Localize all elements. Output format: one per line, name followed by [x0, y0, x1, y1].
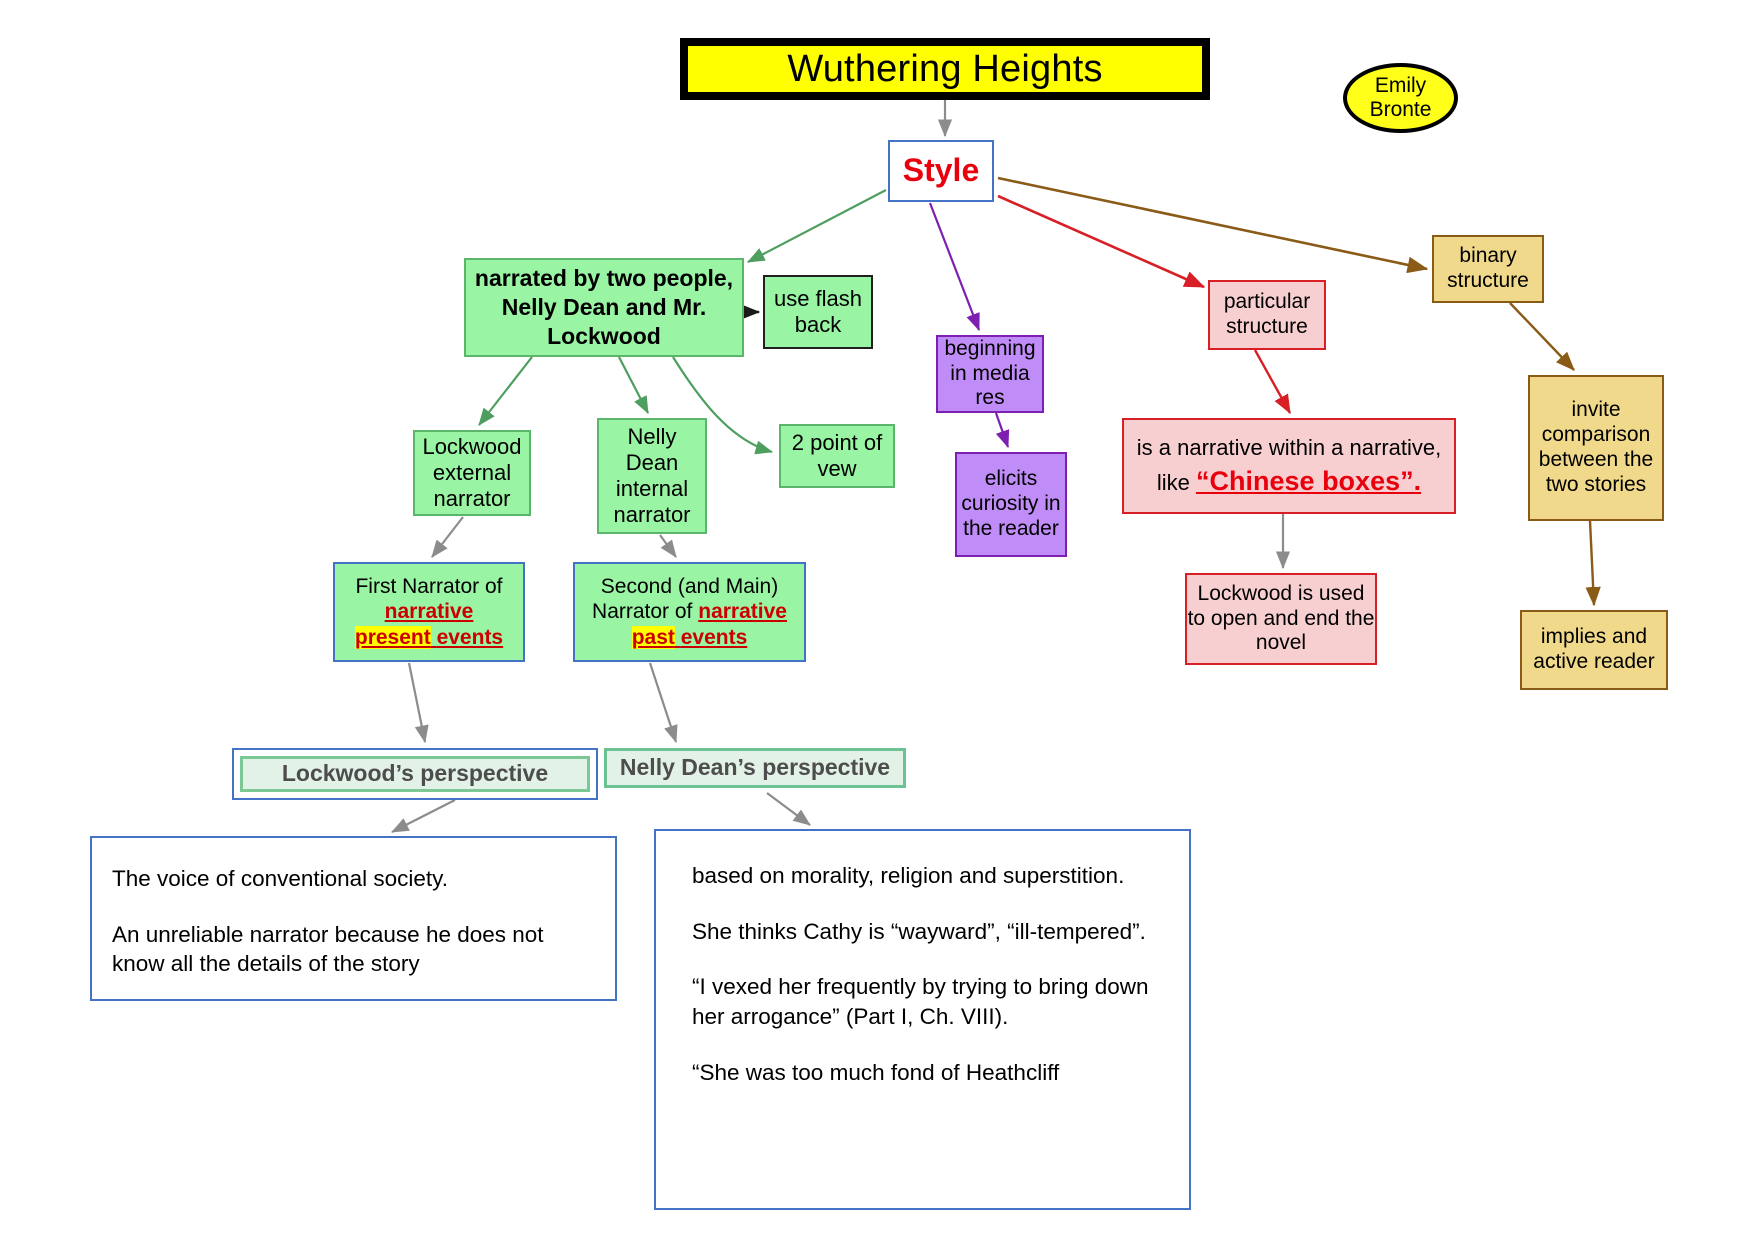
edge-nelly-internal-to-second-narrator — [660, 535, 676, 557]
edge-binary-structure-to-invite — [1510, 303, 1574, 370]
node-lockwood-external-narrator-label: Lockwood external narrator — [415, 434, 529, 512]
node-narrated-by-two-people: narrated by two people, Nelly Dean and M… — [464, 258, 744, 357]
root-node-style: Style — [888, 140, 994, 202]
first-narrator-lead: First Narrator of — [355, 575, 502, 598]
node-use-flash-back-label: use flash back — [765, 286, 871, 338]
node-elicits-curiosity-label: elicits curiosity in the reader — [957, 467, 1065, 541]
concept-map-canvas: Wuthering Heights Emily Bronte Style nar… — [0, 0, 1754, 1240]
root-node-label: Style — [890, 152, 992, 190]
edge-narration-to-lockwood-external — [479, 357, 532, 425]
edge-invite-to-implies — [1590, 521, 1594, 605]
node-lockwood-perspective-label: Lockwood’s perspective — [243, 760, 587, 787]
node-elicits-curiosity: elicits curiosity in the reader — [955, 452, 1067, 557]
node-lockwood-external-narrator: Lockwood external narrator — [413, 430, 531, 516]
edge-style-to-particular-structure — [998, 196, 1204, 287]
node-beginning-in-media-res: beginning in media res — [936, 335, 1044, 413]
node-particular-structure-label: particular structure — [1210, 290, 1324, 340]
edge-lockwood-perspective-to-notes — [392, 800, 455, 832]
node-lockwood-perspective: Lockwood’s perspective — [232, 748, 598, 800]
author-node: Emily Bronte — [1343, 63, 1458, 133]
edge-media-res-to-elicits — [996, 413, 1008, 447]
node-use-flash-back: use flash back — [763, 275, 873, 349]
first-narrator-emph-present: present — [355, 626, 431, 649]
node-particular-structure: particular structure — [1208, 280, 1326, 350]
nelly-note-3: “I vexed her frequently by trying to bri… — [692, 972, 1167, 1031]
map-title-node: Wuthering Heights — [680, 38, 1210, 100]
node-binary-structure: binary structure — [1432, 235, 1544, 303]
node-nelly-dean-internal-narrator-label: Nelly Dean internal narrator — [599, 424, 705, 528]
edge-style-to-narration — [748, 190, 886, 262]
node-binary-structure-label: binary structure — [1434, 244, 1542, 294]
node-lockwood-opens-ends-novel-label: Lockwood is used to open and end the nov… — [1187, 582, 1375, 656]
edge-style-to-media-res — [930, 203, 979, 330]
author-name: Emily Bronte — [1347, 74, 1454, 121]
edge-lockwood-external-to-first-narrator — [432, 517, 463, 557]
node-first-narrator: First Narrator of narrative present even… — [333, 562, 525, 662]
edge-nelly-perspective-to-notes — [767, 793, 810, 825]
node-two-point-of-view-label: 2 point of vew — [781, 430, 893, 482]
first-narrator-emph-events: events — [437, 626, 504, 649]
nelly-note-4: “She was too much fond of Heathcliff — [692, 1058, 1167, 1088]
node-implies-active-reader: implies and active reader — [1520, 610, 1668, 690]
lockwood-note-2: An unreliable narrator because he does n… — [112, 920, 595, 979]
edge-style-to-binary-structure — [998, 178, 1427, 269]
second-narrator-emph-events: events — [681, 626, 748, 649]
node-beginning-in-media-res-label: beginning in media res — [938, 337, 1042, 411]
edge-particular-structure-to-chinese-boxes — [1255, 350, 1290, 413]
node-two-point-of-view: 2 point of vew — [779, 424, 895, 488]
edge-second-narrator-to-nelly-perspective — [650, 663, 676, 742]
node-chinese-boxes: is a narrative within a narrative, like … — [1122, 418, 1456, 514]
lockwood-perspective-inner-bar: Lockwood’s perspective — [240, 756, 590, 792]
node-second-narrator: Second (and Main) Narrator of narrative … — [573, 562, 806, 662]
node-chinese-boxes-label: is a narrative within a narrative, like … — [1124, 433, 1454, 499]
chinese-boxes-emphasis: “Chinese boxes”. — [1196, 466, 1421, 496]
nelly-note-1: based on morality, religion and supersti… — [692, 861, 1167, 891]
edge-first-narrator-to-lockwood-perspective — [409, 663, 425, 742]
second-narrator-emph-narrative: narrative — [698, 600, 787, 623]
panel-nelly-dean-notes: based on morality, religion and supersti… — [654, 829, 1191, 1210]
node-implies-active-reader-label: implies and active reader — [1522, 625, 1666, 675]
node-second-narrator-label: Second (and Main) Narrator of narrative … — [575, 574, 804, 651]
first-narrator-emph-narrative: narrative — [385, 600, 474, 623]
edge-narration-to-nelly-internal — [619, 357, 648, 413]
author-last-name: Bronte — [1370, 98, 1432, 121]
node-narrated-by-two-people-label: narrated by two people, Nelly Dean and M… — [466, 264, 742, 350]
node-nelly-dean-perspective: Nelly Dean’s perspective — [604, 748, 906, 788]
panel-lockwood-notes: The voice of conventional society. An un… — [90, 836, 617, 1001]
author-first-name: Emily — [1375, 74, 1426, 97]
lockwood-note-1: The voice of conventional society. — [112, 864, 595, 894]
map-title-text: Wuthering Heights — [688, 47, 1202, 92]
node-invite-comparison: invite comparison between the two storie… — [1528, 375, 1664, 521]
node-lockwood-opens-ends-novel: Lockwood is used to open and end the nov… — [1185, 573, 1377, 665]
nelly-note-2: She thinks Cathy is “wayward”, “ill-temp… — [692, 917, 1167, 947]
node-nelly-dean-internal-narrator: Nelly Dean internal narrator — [597, 418, 707, 534]
node-invite-comparison-label: invite comparison between the two storie… — [1530, 398, 1662, 497]
node-nelly-dean-perspective-label: Nelly Dean’s perspective — [607, 754, 903, 781]
second-narrator-emph-past: past — [632, 626, 675, 649]
node-first-narrator-label: First Narrator of narrative present even… — [335, 574, 523, 651]
